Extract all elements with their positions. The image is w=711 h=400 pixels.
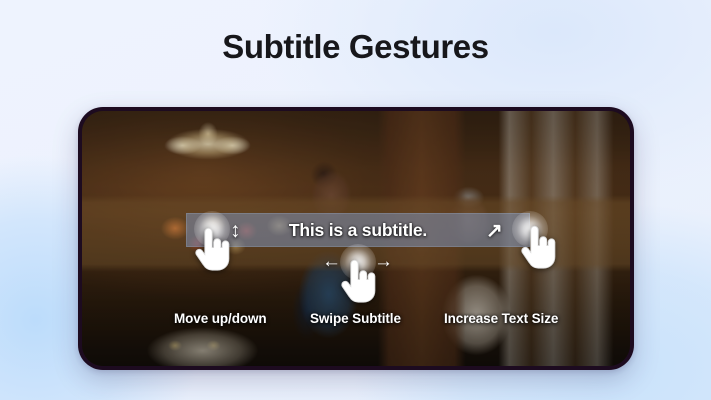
diagonal-resize-arrow-icon: ↗ xyxy=(486,221,503,241)
hand-pointer-icon-right[interactable] xyxy=(518,223,558,271)
page-root: Subtitle Gestures This is a subtitle. ↕ … xyxy=(0,0,711,400)
gesture-caption-swipe-subtitle: Swipe Subtitle xyxy=(310,311,401,326)
device-frame: This is a subtitle. ↕ ← → ↗ xyxy=(78,107,634,370)
subtitle-text: This is a subtitle. xyxy=(289,220,427,241)
hand-pointer-icon-left[interactable] xyxy=(192,225,232,273)
page-title: Subtitle Gestures xyxy=(0,28,711,66)
gesture-caption-increase-text-size: Increase Text Size xyxy=(444,311,558,326)
hand-pointer-icon-center[interactable] xyxy=(338,257,378,305)
device-screen: This is a subtitle. ↕ ← → ↗ xyxy=(82,111,630,366)
gesture-caption-move-up-down: Move up/down xyxy=(174,311,267,326)
